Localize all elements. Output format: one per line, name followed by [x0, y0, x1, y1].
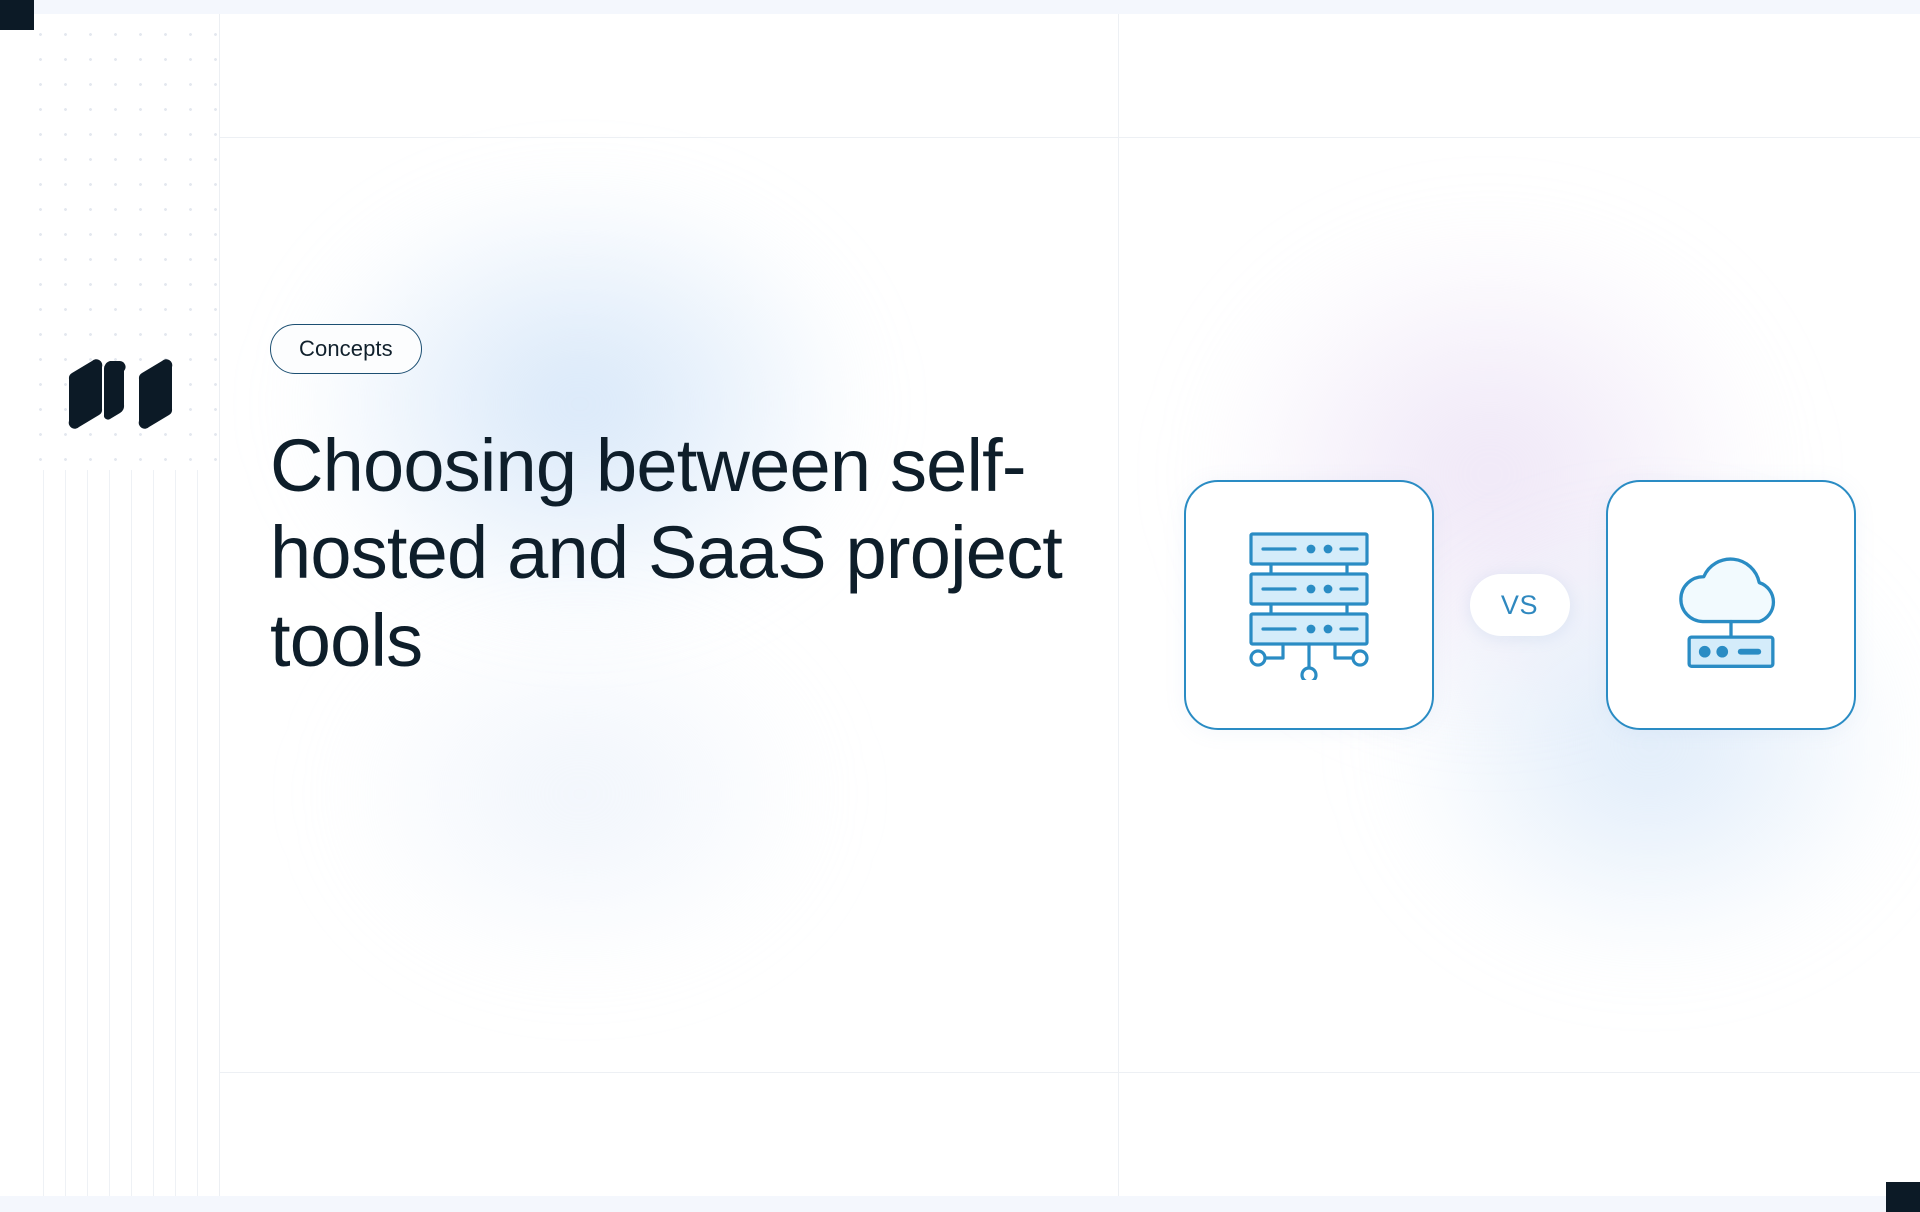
rail-divider: [219, 14, 220, 1196]
stacked-panels-logo: [58, 359, 176, 429]
corner-mark-bottom-right: [1886, 1182, 1920, 1212]
server-rack-icon: [1239, 530, 1379, 680]
page-title: Choosing between self-hosted and SaaS pr…: [270, 422, 1100, 684]
self-hosted-icon-card[interactable]: [1184, 480, 1434, 730]
corner-mark-top-left: [0, 0, 34, 30]
vertical-stripes-pattern: [22, 470, 220, 1196]
comparison-illustration: VS: [1119, 138, 1920, 1072]
category-badge[interactable]: Concepts: [270, 324, 422, 374]
hero-content: Concepts Choosing between self-hosted an…: [270, 324, 1100, 684]
grid-line-bottom: [220, 1072, 1920, 1073]
cloud-server-icon: [1658, 532, 1804, 678]
versus-badge: VS: [1470, 574, 1570, 636]
page-root: Concepts Choosing between self-hosted an…: [0, 0, 1920, 1212]
decorative-rail: [0, 14, 220, 1196]
saas-icon-card[interactable]: [1606, 480, 1856, 730]
content-card: Concepts Choosing between self-hosted an…: [0, 14, 1920, 1196]
